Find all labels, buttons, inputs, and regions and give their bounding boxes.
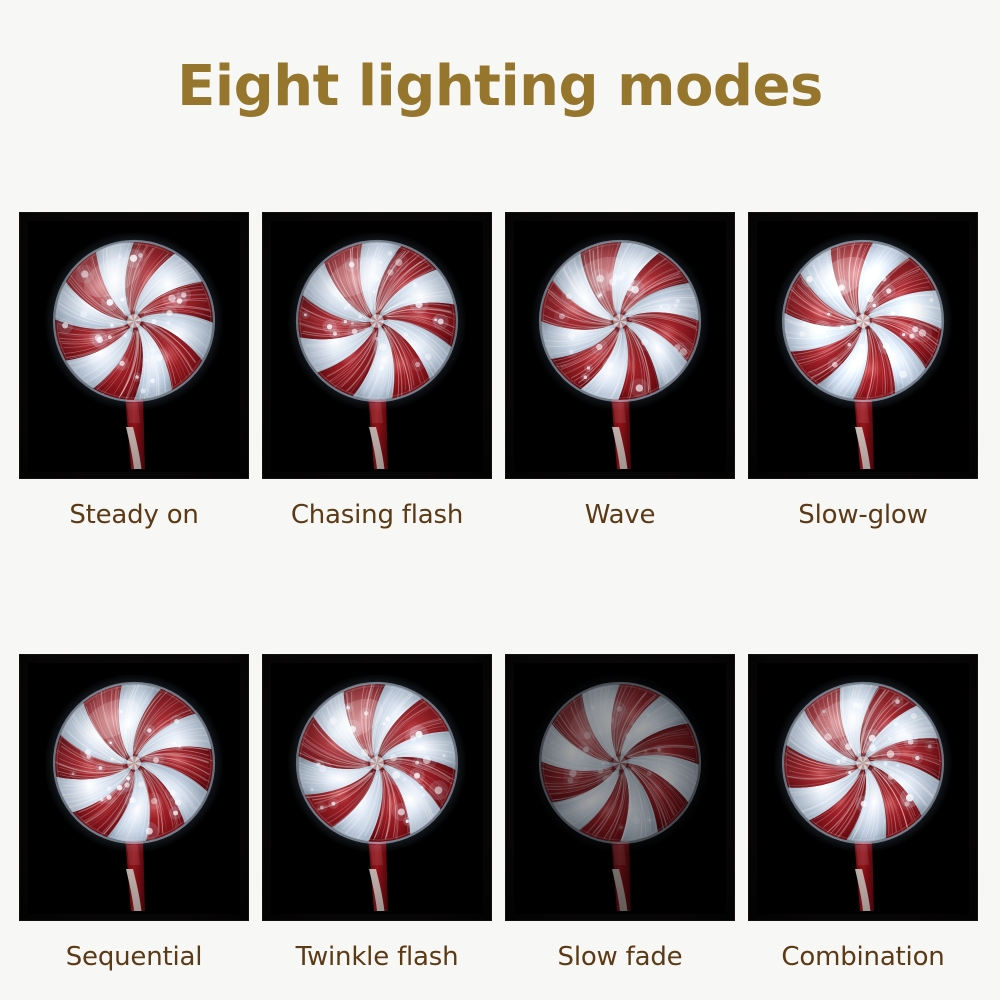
candy-lollipop-icon	[45, 675, 223, 911]
candy-lollipop-icon	[288, 675, 466, 911]
candy-lollipop-icon	[45, 233, 223, 469]
mode-cell-sequential[interactable]: Sequential	[20, 655, 248, 972]
photo-inner	[757, 663, 969, 914]
mode-label: Sequential	[20, 942, 248, 972]
candy-lollipop-icon	[531, 675, 709, 911]
mode-cell-steady-on[interactable]: Steady on	[20, 213, 248, 530]
mode-cell-slow-glow[interactable]: Slow-glow	[749, 213, 977, 530]
mode-label: Combination	[749, 942, 977, 972]
mode-cell-twinkle-flash[interactable]: Twinkle flash	[263, 655, 491, 972]
mode-photo-slow-glow[interactable]	[749, 213, 977, 478]
mode-cell-wave[interactable]: Wave	[506, 213, 734, 530]
mode-photo-chasing-flash[interactable]	[263, 213, 491, 478]
photo-inner	[514, 221, 726, 472]
page-title: Eight lighting modes	[0, 58, 1000, 117]
mode-photo-wave[interactable]	[506, 213, 734, 478]
candy-lollipop-icon	[288, 233, 466, 469]
photo-inner	[514, 663, 726, 914]
candy-lollipop-icon	[531, 233, 709, 469]
candy-lollipop-icon	[774, 675, 952, 911]
photo-inner	[271, 663, 483, 914]
mode-photo-combination[interactable]	[749, 655, 977, 920]
mode-photo-steady-on[interactable]	[20, 213, 248, 478]
mode-label: Slow fade	[506, 942, 734, 972]
mode-label: Twinkle flash	[263, 942, 491, 972]
photo-inner	[757, 221, 969, 472]
mode-photo-sequential[interactable]	[20, 655, 248, 920]
mode-photo-slow-fade[interactable]	[506, 655, 734, 920]
photo-inner	[28, 221, 240, 472]
photo-inner	[271, 221, 483, 472]
lighting-modes-grid: Steady on	[20, 213, 978, 972]
mode-label: Slow-glow	[749, 500, 977, 530]
mode-cell-chasing-flash[interactable]: Chasing flash	[263, 213, 491, 530]
mode-label: Chasing flash	[263, 500, 491, 530]
mode-cell-slow-fade[interactable]: Slow fade	[506, 655, 734, 972]
candy-lollipop-icon	[774, 233, 952, 469]
photo-inner	[28, 663, 240, 914]
mode-label: Steady on	[20, 500, 248, 530]
mode-cell-combination[interactable]: Combination	[749, 655, 977, 972]
mode-photo-twinkle-flash[interactable]	[263, 655, 491, 920]
mode-label: Wave	[506, 500, 734, 530]
